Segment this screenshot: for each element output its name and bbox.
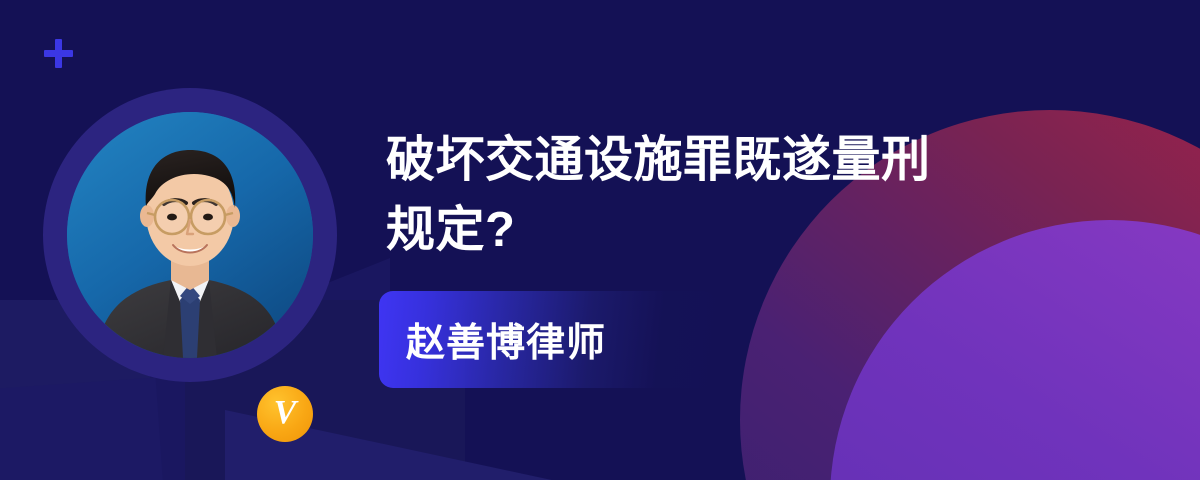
- background-polygon-e: [0, 377, 164, 480]
- verified-badge-letter: V: [274, 396, 297, 430]
- promo-card: V 破坏交通设施罪既遂量刑 规定? 赵善博律师: [0, 0, 1200, 480]
- plus-icon: [44, 39, 73, 68]
- lawyer-name-button[interactable]: 赵善博律师: [379, 291, 717, 388]
- text-content: 破坏交通设施罪既遂量刑 规定?: [386, 126, 1086, 265]
- avatar: V: [43, 88, 337, 382]
- lawyer-avatar-photo: [67, 112, 313, 358]
- page-title: 破坏交通设施罪既遂量刑 规定?: [386, 126, 1086, 265]
- verified-check-icon: V: [257, 386, 313, 442]
